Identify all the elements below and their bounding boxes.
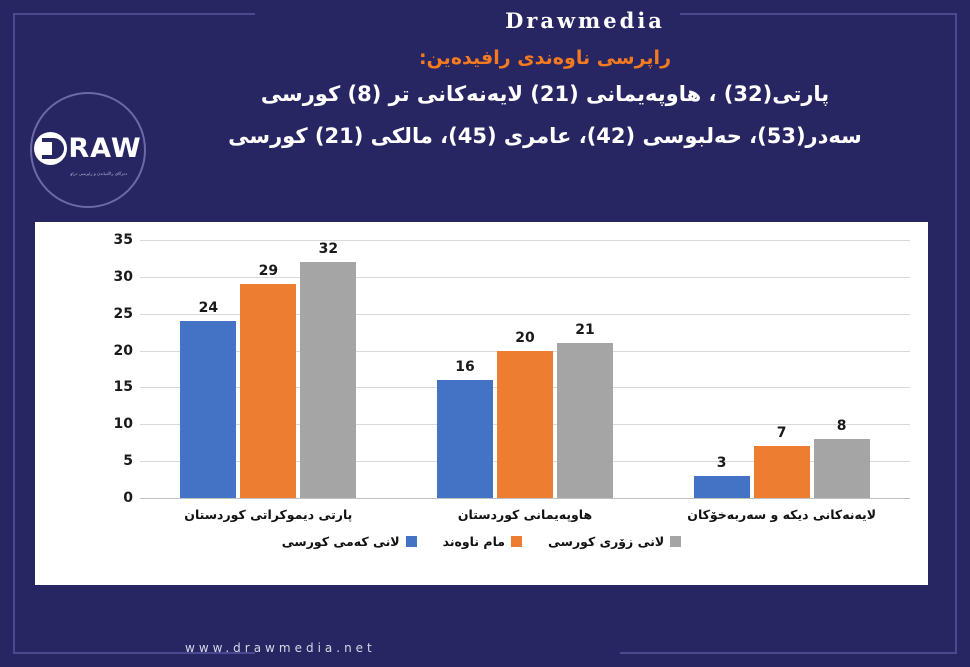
bar-value-label: 21	[557, 322, 613, 338]
bar-slot: 3	[694, 240, 750, 498]
logo-raw-text: RAW	[68, 135, 141, 162]
bar[interactable]: 20	[497, 351, 553, 498]
brand-title: Drawmedia	[0, 8, 970, 33]
bar-slot: 8	[814, 240, 870, 498]
bar-slot: 21	[557, 240, 613, 498]
draw-logo: RAW دەزگای راگەیاندن و راپرسی دراو	[30, 92, 146, 208]
bar-group: 242932	[140, 240, 397, 498]
axis-baseline	[140, 498, 910, 499]
y-axis-tick: 25	[114, 306, 133, 322]
bar-slot: 16	[437, 240, 493, 498]
bar-value-label: 29	[240, 263, 296, 279]
legend-item[interactable]: لانی زۆری کورسی	[548, 534, 681, 549]
bar-slot: 24	[180, 240, 236, 498]
category-labels: پارتی دیموکراتی کوردستانهاوپەیمانی کوردس…	[140, 507, 910, 522]
logo-d-mark-icon	[34, 132, 67, 165]
footer-url: www.drawmedia.net	[185, 641, 376, 655]
bar[interactable]: 8	[814, 439, 870, 498]
y-axis-tick: 15	[114, 379, 133, 395]
category-label: پارتی دیموکراتی کوردستان	[140, 507, 397, 522]
y-axis: 05101520253035	[97, 240, 133, 498]
bar-groups: 242932162021378	[140, 240, 910, 498]
bar[interactable]: 24	[180, 321, 236, 498]
category-label: هاوپەیمانی کوردستان	[397, 507, 654, 522]
bar[interactable]: 21	[557, 343, 613, 498]
legend-label: لانی کەمی کورسی	[282, 534, 400, 549]
logo-subtitle: دەزگای راگەیاندن و راپرسی دراو	[70, 171, 127, 176]
bar-value-label: 24	[180, 300, 236, 316]
y-axis-tick: 30	[114, 269, 133, 285]
legend-swatch-icon	[406, 536, 417, 547]
bar-value-label: 7	[754, 425, 810, 441]
headline-block: راپرسی ناوەندی رافیدەین: پارتی(32) ، هاو…	[150, 44, 940, 157]
chart-panel: 05101520253035 242932162021378 پارتی دیم…	[35, 222, 928, 585]
category-label: لایەنەکانی دیکە و سەربەخۆکان	[653, 507, 910, 522]
bar-slot: 32	[300, 240, 356, 498]
y-axis-tick: 35	[114, 232, 133, 248]
bar-value-label: 16	[437, 359, 493, 375]
headline-line-1: پارتی(32) ، هاوپەیمانی (21) لایەنەکانی ت…	[150, 73, 940, 115]
headline-title: راپرسی ناوەندی رافیدەین:	[150, 44, 940, 73]
y-axis-tick: 20	[114, 343, 133, 359]
legend-item[interactable]: لانی کەمی کورسی	[282, 534, 417, 549]
y-axis-tick: 5	[123, 453, 133, 469]
legend-item[interactable]: مام ناوەند	[443, 534, 522, 549]
headline-line-2: سەدر(53)، حەلبوسی (42)، عامری (45)، مالک…	[150, 115, 940, 157]
bar[interactable]: 29	[240, 284, 296, 498]
plot-area: 242932162021378	[140, 240, 910, 498]
bar-group: 378	[653, 240, 910, 498]
bar-slot: 29	[240, 240, 296, 498]
logo-inner: RAW دەزگای راگەیاندن و راپرسی دراو	[34, 132, 141, 165]
plot-wrapper: 05101520253035 242932162021378 پارتی دیم…	[35, 222, 928, 585]
legend-label: لانی زۆری کورسی	[548, 534, 664, 549]
legend-swatch-icon	[511, 536, 522, 547]
bar-value-label: 20	[497, 330, 553, 346]
bar[interactable]: 32	[300, 262, 356, 498]
legend-label: مام ناوەند	[443, 534, 505, 549]
bar[interactable]: 16	[437, 380, 493, 498]
bar-group: 162021	[397, 240, 654, 498]
bar-value-label: 32	[300, 241, 356, 257]
bar-value-label: 8	[814, 418, 870, 434]
bar-slot: 7	[754, 240, 810, 498]
bar[interactable]: 3	[694, 476, 750, 498]
bar-slot: 20	[497, 240, 553, 498]
legend-swatch-icon	[670, 536, 681, 547]
chart-legend: لانی کەمی کورسیمام ناوەندلانی زۆری کورسی	[35, 534, 928, 549]
y-axis-tick: 10	[114, 416, 133, 432]
bar-value-label: 3	[694, 455, 750, 471]
y-axis-tick: 0	[123, 490, 133, 506]
bar[interactable]: 7	[754, 446, 810, 498]
